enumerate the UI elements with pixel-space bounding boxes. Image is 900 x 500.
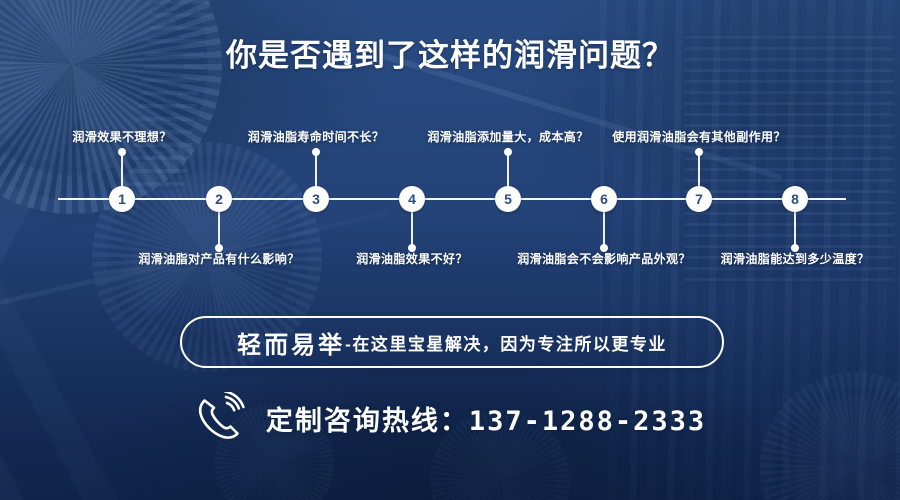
hotline-text: 定制咨询热线：137-1288-2333 [266,399,706,438]
timeline-axis [58,198,846,200]
timeline-stem [411,212,413,248]
timeline-number-3[interactable]: 3 [303,186,329,212]
timeline-label-6: 润滑油脂会不会影响产品外观？ [517,250,691,267]
timeline-stem [507,152,509,188]
phone-call-icon [194,392,250,444]
slogan-pill: 轻而易举 -在这里宝星解决，因为专注所以更专业 [180,316,724,368]
slogan-highlight: 轻而易举 [237,325,345,360]
timeline-label-1: 润滑效果不理想？ [72,128,171,145]
timeline-label-8: 润滑油脂能达到多少温度？ [721,250,870,267]
timeline-stem [218,212,220,248]
timeline-stem [603,212,605,248]
timeline-number-6[interactable]: 6 [591,186,617,212]
问题-timeline: 润滑效果不理想？ 1 润滑油脂对产品有什么影响？ 2 润滑油脂寿命时间不长？ 3… [0,120,900,280]
timeline-label-2: 润滑油脂对产品有什么影响？ [138,250,299,267]
timeline-number-2[interactable]: 2 [206,186,232,212]
timeline-label-5: 润滑油脂添加量大，成本高？ [427,128,588,145]
lubrication-promo-banner: 你是否遇到了这样的润滑问题？ 润滑效果不理想？ 1 润滑油脂对产品有什么影响？ … [0,0,900,500]
timeline-number-7[interactable]: 7 [686,186,712,212]
timeline-number-4[interactable]: 4 [399,186,425,212]
timeline-stem [315,152,317,188]
timeline-label-7: 使用润滑油脂会有其他副作用？ [612,128,786,145]
timeline-label-4: 润滑油脂效果不好？ [356,250,468,267]
timeline-label-3: 润滑油脂寿命时间不长？ [248,128,384,145]
slogan-rest: -在这里宝星解决，因为专注所以更专业 [345,330,667,355]
timeline-stem [698,152,700,188]
contact-cta[interactable]: 定制咨询热线：137-1288-2333 [0,392,900,444]
timeline-number-8[interactable]: 8 [782,186,808,212]
timeline-number-1[interactable]: 1 [109,186,135,212]
timeline-number-5[interactable]: 5 [495,186,521,212]
timeline-stem [794,212,796,248]
page-title: 你是否遇到了这样的润滑问题？ [0,30,900,75]
banner-content: 你是否遇到了这样的润滑问题？ 润滑效果不理想？ 1 润滑油脂对产品有什么影响？ … [0,0,900,500]
timeline-stem [121,152,123,188]
